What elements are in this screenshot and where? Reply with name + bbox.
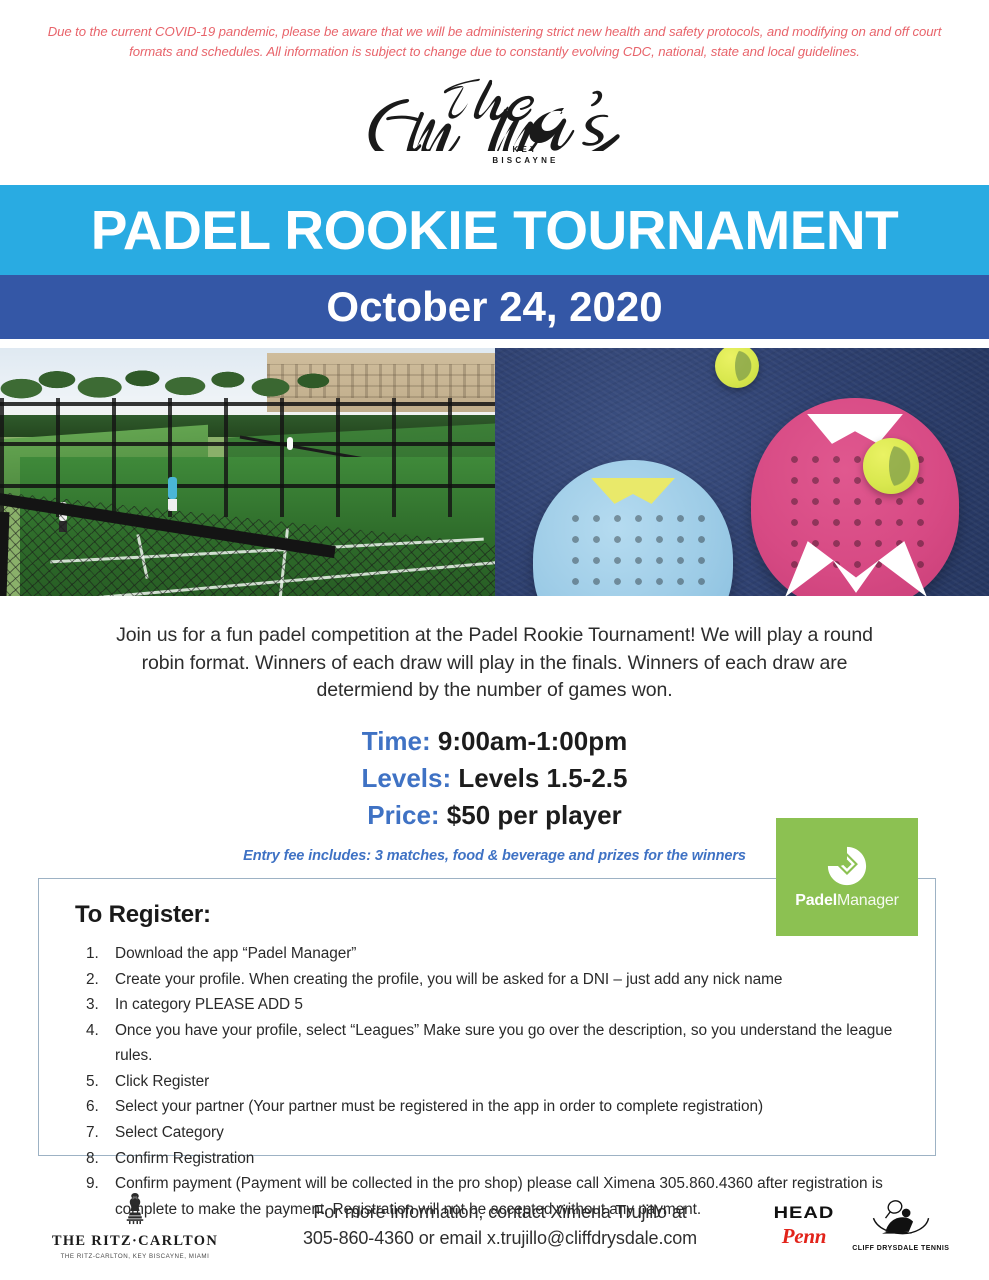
list-item: Create your profile. When creating the p…	[103, 967, 909, 993]
detail-label-price: Price:	[367, 800, 439, 830]
padel-manager-light-part: Manager	[837, 892, 899, 909]
player-figure	[168, 477, 177, 499]
ritz-carlton-name: THE RITZ·CARLTON	[52, 1233, 218, 1250]
padel-manager-logo: PadelManager	[776, 818, 918, 936]
brand-sublabel-biscayne: BISCAYNE	[492, 156, 558, 165]
padel-manager-bold-part: Padel	[795, 892, 837, 909]
detail-label-levels: Levels:	[362, 763, 452, 793]
cliff-drysdale-name: CLIFF DRYSDALE TENNIS	[852, 1245, 949, 1252]
player-figure	[287, 437, 293, 450]
list-item: Confirm Registration	[103, 1146, 909, 1172]
event-title-banner: PADEL ROOKIE TOURNAMENT	[0, 185, 989, 275]
list-item: In category PLEASE ADD 5	[103, 992, 909, 1018]
register-steps-list: Download the app “Padel Manager” Create …	[73, 941, 909, 1222]
tennis-ball	[863, 438, 919, 494]
padel-manager-droplet-icon	[826, 845, 868, 887]
photo-strip	[0, 348, 989, 596]
padel-racquets-photo	[495, 348, 989, 596]
event-date-banner: October 24, 2020	[0, 275, 989, 339]
detail-value-levels: Levels 1.5-2.5	[458, 763, 627, 793]
fence-rail	[0, 402, 495, 406]
contact-line-2: 305-860-4360 or email x.trujillo@cliffdr…	[276, 1225, 724, 1251]
list-item: Select your partner (Your partner must b…	[103, 1094, 909, 1120]
list-item: Download the app “Padel Manager”	[103, 941, 909, 967]
detail-label-time: Time:	[362, 726, 431, 756]
racquet-chevron	[591, 478, 675, 504]
detail-row-time: Time: 9:00am-1:00pm	[0, 723, 989, 760]
ritz-carlton-subline: THE RITZ-CARLTON, KEY BISCAYNE, MIAMI	[61, 1253, 210, 1260]
padel-courts-photo	[0, 348, 495, 596]
covid-notice: Due to the current COVID-19 pandemic, pl…	[0, 0, 989, 67]
pink-padel-racquet	[751, 398, 959, 596]
list-item: Once you have your profile, select “Leag…	[103, 1018, 909, 1069]
list-item: Select Category	[103, 1120, 909, 1146]
penn-wordmark: Penn	[782, 1224, 826, 1249]
list-item: Click Register	[103, 1069, 909, 1095]
fence-rail	[0, 484, 495, 488]
empanadas-script-logo	[350, 73, 640, 151]
brand-logo: KEY BISCAYNE	[0, 67, 989, 185]
detail-value-price: $50 per player	[447, 800, 622, 830]
court-fence-posts	[0, 398, 495, 517]
detail-value-time: 9:00am-1:00pm	[438, 726, 627, 756]
intro-paragraph: Join us for a fun padel competition at t…	[0, 596, 989, 705]
fence-rail	[0, 442, 495, 446]
racquet-holes	[561, 504, 705, 596]
list-item: Confirm payment (Payment will be collect…	[103, 1171, 909, 1222]
padel-manager-wordmark: PadelManager	[795, 892, 898, 910]
detail-row-levels: Levels: Levels 1.5-2.5	[0, 760, 989, 797]
